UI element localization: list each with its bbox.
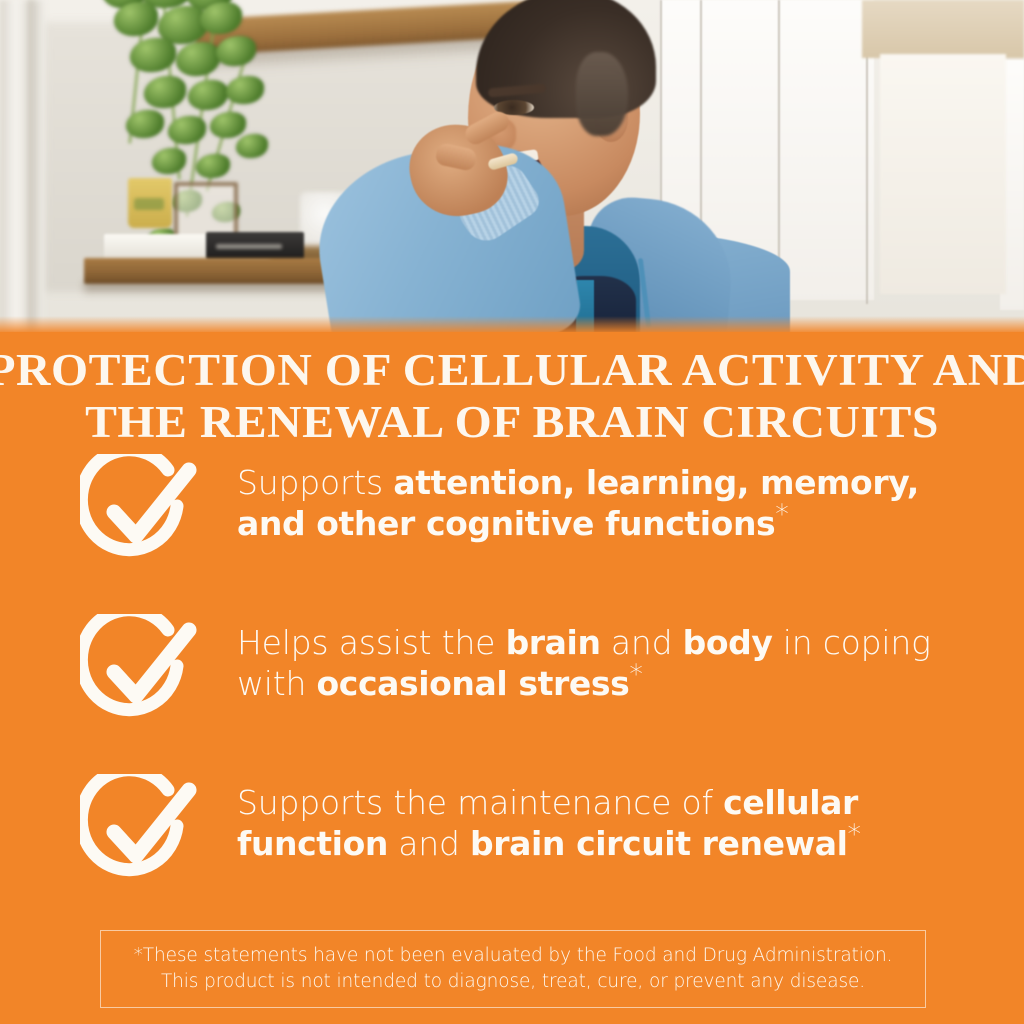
benefit-3-part-4: brain circuit renewal	[470, 824, 847, 863]
disclaimer-line-2: This product is not intended to diagnose…	[134, 969, 893, 995]
hair-sideburn	[576, 52, 628, 136]
list-item: Supports the maintenance of cellular fun…	[0, 774, 1024, 894]
list-item: Supports attention, learning, memory, an…	[0, 454, 1024, 574]
benefit-2-asterisk: *	[629, 659, 642, 690]
benefit-2-part-3: and	[601, 623, 683, 662]
photo-fade	[0, 316, 1024, 333]
range-hood-body	[880, 54, 1006, 294]
range-hood-top	[862, 0, 1024, 58]
books-light	[104, 234, 210, 260]
benefit-2-part-4: body	[683, 623, 773, 662]
headline-line-1: PROTECTION OF CELLULAR ACTIVITY AND	[0, 344, 1024, 396]
benefit-text-1: Supports attention, learning, memory, an…	[237, 454, 947, 544]
benefit-3-asterisk: *	[847, 819, 860, 850]
promo-banner: PROTECTION OF CELLULAR ACTIVITY AND THE …	[0, 0, 1024, 1024]
benefit-1-asterisk: *	[775, 499, 788, 530]
benefit-2-part-2: brain	[506, 623, 601, 662]
headline-line-2: THE RENEWAL OF BRAIN CIRCUITS	[0, 396, 1024, 448]
disclaimer-line-1: *These statements have not been evaluate…	[134, 943, 893, 969]
benefit-2-part-6: occasional stress	[317, 664, 630, 703]
circle-check-icon	[80, 774, 200, 886]
benefit-3-part-3: and	[388, 824, 470, 863]
person-figure	[380, 0, 800, 333]
circle-check-icon	[80, 614, 200, 726]
benefit-1-part-1: Supports	[237, 463, 393, 502]
benefit-2-part-1: Helps assist the	[237, 623, 506, 662]
list-item: Helps assist the brain and body in copin…	[0, 614, 1024, 734]
book-spine-title	[216, 244, 282, 249]
benefit-3-part-1: Supports the maintenance of	[237, 783, 723, 822]
benefits-panel: PROTECTION OF CELLULAR ACTIVITY AND THE …	[0, 332, 1024, 1024]
benefit-text-2: Helps assist the brain and body in copin…	[237, 614, 947, 704]
cabinet-seam-4	[866, 54, 868, 304]
page-title: PROTECTION OF CELLULAR ACTIVITY AND THE …	[0, 344, 1024, 448]
benefits-list: Supports attention, learning, memory, an…	[0, 454, 1024, 934]
benefit-text-3: Supports the maintenance of cellular fun…	[237, 774, 947, 864]
hero-photo	[0, 0, 1024, 333]
disclaimer-box: *These statements have not been evaluate…	[100, 930, 926, 1008]
plant-pot-band	[134, 198, 164, 210]
circle-check-icon	[80, 454, 200, 566]
disclaimer-text: *These statements have not been evaluate…	[134, 943, 893, 995]
